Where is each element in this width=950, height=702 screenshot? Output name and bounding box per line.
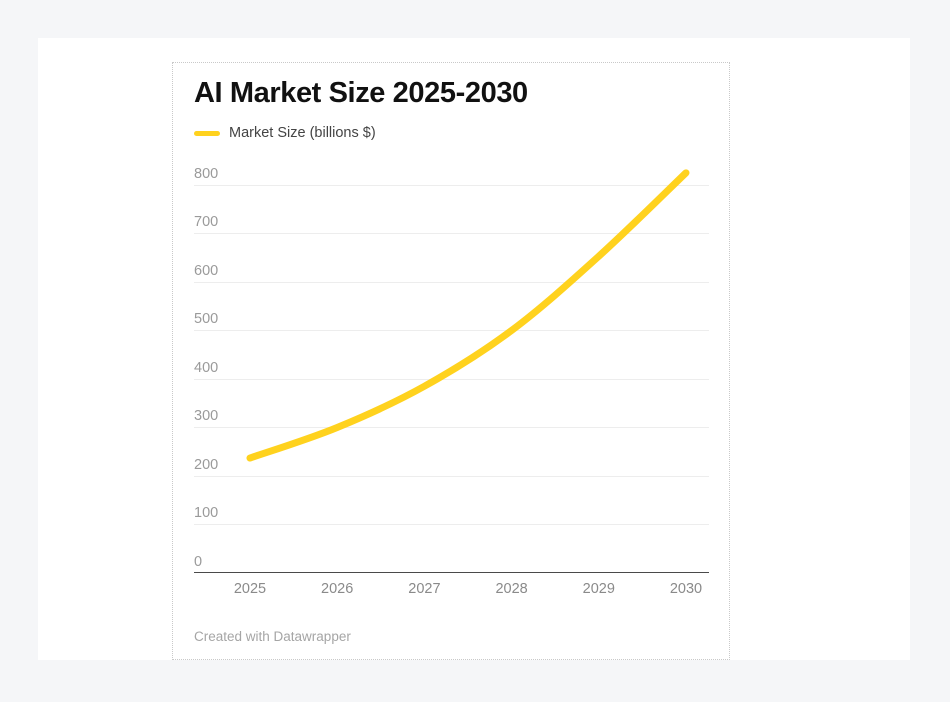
chart-credit-footer: Created with Datawrapper <box>194 629 351 644</box>
series-line-market-size <box>250 173 686 458</box>
x-axis-tick-label: 2030 <box>670 581 702 597</box>
page-root: AI Market Size 2025-2030 Market Size (bi… <box>0 0 950 702</box>
plot-area: 0100200300400500600700800 20252026202720… <box>194 151 709 573</box>
legend-series-label: Market Size (billions $) <box>229 125 376 141</box>
gridline <box>194 573 709 574</box>
x-axis-tick-label: 2025 <box>234 581 266 597</box>
x-axis-tick-label: 2028 <box>495 581 527 597</box>
chart-container: AI Market Size 2025-2030 Market Size (bi… <box>173 63 729 659</box>
series-line-chart <box>194 151 709 573</box>
chart-title: AI Market Size 2025-2030 <box>194 77 528 110</box>
content-card: AI Market Size 2025-2030 Market Size (bi… <box>38 38 910 660</box>
x-axis-tick-label: 2027 <box>408 581 440 597</box>
chart-legend: Market Size (billions $) <box>194 125 376 141</box>
legend-line-swatch-icon <box>194 131 220 136</box>
x-axis-tick-label: 2029 <box>583 581 615 597</box>
x-axis-tick-label: 2026 <box>321 581 353 597</box>
datawrapper-embed-frame[interactable]: AI Market Size 2025-2030 Market Size (bi… <box>172 62 730 660</box>
